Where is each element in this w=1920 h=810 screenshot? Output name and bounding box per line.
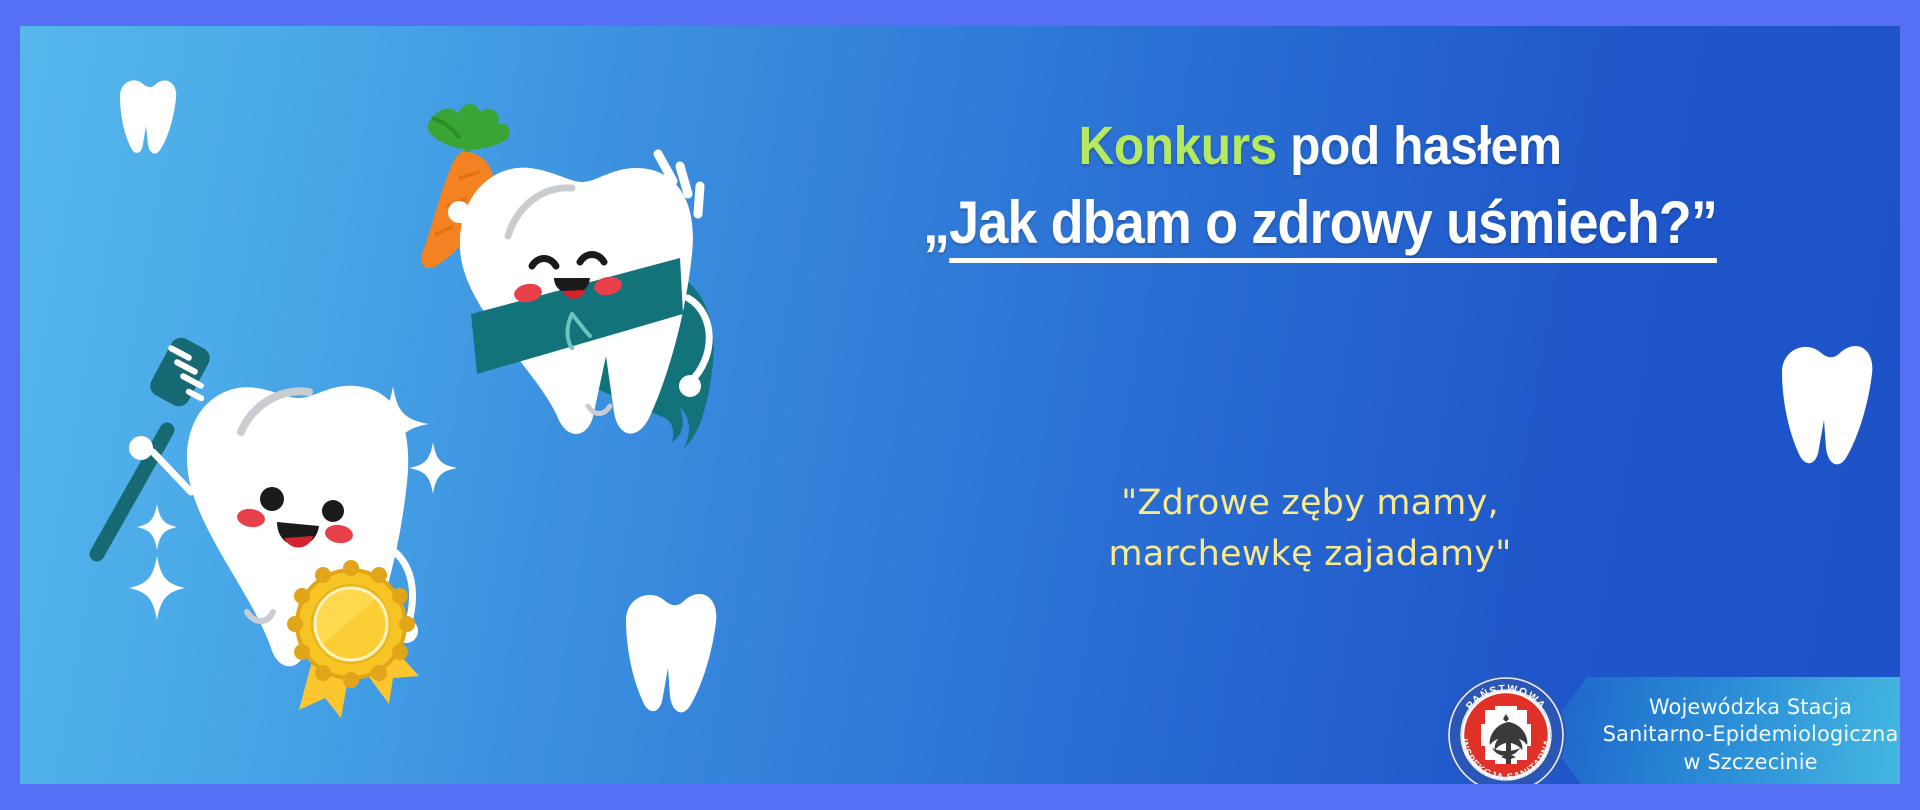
slogan-block: "Zdrowe zęby mamy, marchewkę zajadamy" <box>870 478 1750 580</box>
sparkle-small-icon <box>137 504 177 550</box>
headline-title-underlined: Jak dbam o zdrowy uśmiech?” <box>949 189 1717 263</box>
mini-tooth-bottom-center <box>612 588 722 716</box>
right-hand <box>679 375 701 397</box>
logo-banner-line-3: w Szczecinie <box>1603 749 1899 776</box>
logo-banner-line-1: Wojewódzka Stacja <box>1603 694 1899 721</box>
tooth-bottom-shine <box>588 406 610 414</box>
slogan-line-2: marchewkę zajadamy" <box>870 529 1750 580</box>
logo-banner: Wojewódzka Stacja Sanitarno-Epidemiologi… <box>1545 677 1900 784</box>
headline-accent-word: Konkurs <box>1078 116 1276 176</box>
left-eye-icon <box>260 487 284 511</box>
sparkle-medium-icon <box>409 442 457 494</box>
left-hand <box>129 436 153 460</box>
logo-banner-line-2: Sanitarno-Epidemiologiczna <box>1603 721 1899 748</box>
mini-tooth-right <box>1768 340 1878 468</box>
headline-line-1-rest: pod hasłem <box>1277 116 1562 176</box>
slogan-line-1: "Zdrowe zęby mamy, <box>870 478 1750 529</box>
left-arm <box>153 452 191 492</box>
sparkle-bottom-icon <box>129 556 185 620</box>
sanitary-inspection-seal-icon: PAŃSTWOWA INSPEKCJA SANITARNA <box>1445 674 1567 784</box>
mini-tooth-top-left <box>110 76 180 156</box>
logo-lockup: Wojewódzka Stacja Sanitarno-Epidemiologi… <box>1445 674 1900 784</box>
headline-line-2: „Jak dbam o zdrowy uśmiech?” <box>834 191 1806 255</box>
poster-stage: Konkurs pod hasłem „Jak dbam o zdrowy uś… <box>20 26 1900 784</box>
medal-tooth-character <box>75 326 495 726</box>
logo-banner-text: Wojewódzka Stacja Sanitarno-Epidemiologi… <box>1567 694 1899 776</box>
headline-open-quote: „ <box>923 189 949 256</box>
poster-root: Konkurs pod hasłem „Jak dbam o zdrowy uś… <box>0 0 1920 810</box>
headline-block: Konkurs pod hasłem „Jak dbam o zdrowy uś… <box>780 118 1860 255</box>
right-eye-icon <box>322 500 344 522</box>
headline-line-1: Konkurs pod hasłem <box>823 118 1817 175</box>
